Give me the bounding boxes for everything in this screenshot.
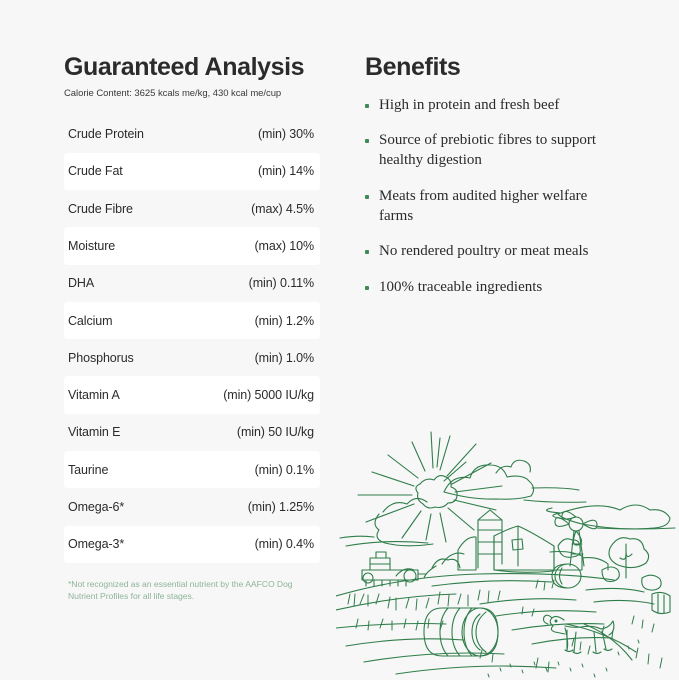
- table-row: Crude Protein (min) 30%: [64, 115, 320, 152]
- nutrient-value: (min) 1.0%: [255, 351, 314, 365]
- table-row: Crude Fibre (max) 4.5%: [64, 190, 320, 227]
- aafco-footnote: *Not recognized as an essential nutrient…: [64, 579, 308, 602]
- nutrient-label: Vitamin E: [68, 425, 120, 439]
- guaranteed-analysis-panel: Guaranteed Analysis Calorie Content: 362…: [64, 54, 322, 602]
- table-row: Calcium (min) 1.2%: [64, 302, 320, 339]
- nutrient-label: DHA: [68, 276, 94, 290]
- windmill-icon: [555, 511, 597, 566]
- nutrient-label: Phosphorus: [68, 351, 134, 365]
- nutrient-label: Omega-6*: [68, 500, 124, 514]
- sun-icon: [358, 432, 502, 542]
- benefits-title: Benefits: [365, 54, 635, 82]
- bullet-icon: [365, 104, 369, 108]
- table-row: Phosphorus (min) 1.0%: [64, 339, 320, 376]
- list-item: 100% traceable ingredients: [365, 278, 635, 298]
- nutrient-value: (min) 0.1%: [255, 463, 314, 477]
- benefit-label: 100% traceable ingredients: [379, 278, 542, 298]
- nutrient-value: (max) 4.5%: [251, 202, 314, 216]
- table-row: DHA (min) 0.11%: [64, 265, 320, 302]
- nutrient-label: Vitamin A: [68, 388, 120, 402]
- list-item: Meats from audited higher welfare farms: [365, 187, 635, 227]
- product-info-page: Guaranteed Analysis Calorie Content: 362…: [0, 0, 679, 679]
- nutrient-table: Crude Protein (min) 30% Crude Fat (min) …: [64, 115, 320, 563]
- nutrient-label: Moisture: [68, 239, 115, 253]
- nutrient-label: Crude Fibre: [68, 202, 133, 216]
- benefit-label: Source of prebiotic fibres to support he…: [379, 131, 609, 171]
- benefit-label: No rendered poultry or meat meals: [379, 242, 589, 262]
- field-furrows: [336, 574, 654, 674]
- grass-tufts: [348, 580, 662, 672]
- bullet-icon: [365, 195, 369, 199]
- foreground-speckles: [488, 640, 639, 677]
- table-row: Crude Fat (min) 14%: [64, 153, 320, 190]
- hay-bale-main: [424, 608, 498, 656]
- benefit-label: High in protein and fresh beef: [379, 96, 559, 116]
- bullet-icon: [365, 250, 369, 254]
- farm-illustration: [336, 418, 679, 680]
- benefits-panel: Benefits High in protein and fresh beef …: [365, 54, 635, 314]
- nutrient-value: (min) 1.25%: [248, 500, 314, 514]
- nutrient-label: Crude Protein: [68, 127, 144, 141]
- table-row: Vitamin E (min) 50 IU/kg: [64, 414, 320, 451]
- nutrient-value: (min) 0.11%: [249, 276, 314, 290]
- guaranteed-analysis-title: Guaranteed Analysis: [64, 54, 322, 82]
- nutrient-value: (min) 5000 IU/kg: [223, 388, 314, 402]
- barn-icon: [424, 510, 608, 578]
- calorie-content-subtitle: Calorie Content: 3625 kcals me/kg, 430 k…: [64, 88, 322, 100]
- trees-icon: [396, 538, 649, 578]
- nutrient-value: (min) 14%: [258, 164, 314, 178]
- bullet-icon: [365, 286, 369, 290]
- table-row: Taurine (min) 0.1%: [64, 451, 320, 488]
- nutrient-label: Crude Fat: [68, 164, 123, 178]
- nutrient-value: (min) 50 IU/kg: [237, 425, 314, 439]
- benefit-label: Meats from audited higher welfare farms: [379, 187, 609, 227]
- table-row: Omega-6* (min) 1.25%: [64, 488, 320, 525]
- nutrient-value: (min) 30%: [258, 127, 314, 141]
- nutrient-label: Taurine: [68, 463, 108, 477]
- nutrient-value: (min) 1.2%: [255, 314, 314, 328]
- nutrient-label: Omega-3*: [68, 537, 124, 551]
- list-item: High in protein and fresh beef: [365, 96, 635, 116]
- list-item: Source of prebiotic fibres to support he…: [365, 131, 635, 171]
- nutrient-value: (max) 10%: [254, 239, 314, 253]
- dog-icon: [544, 615, 614, 653]
- table-row: Omega-3* (min) 0.4%: [64, 526, 320, 563]
- tractor-icon: [362, 552, 426, 586]
- clouds-icon: [340, 460, 675, 546]
- table-row: Moisture (max) 10%: [64, 227, 320, 264]
- list-item: No rendered poultry or meat meals: [365, 242, 635, 262]
- nutrient-label: Calcium: [68, 314, 112, 328]
- table-row: Vitamin A (min) 5000 IU/kg: [64, 376, 320, 413]
- nutrient-value: (min) 0.4%: [255, 537, 314, 551]
- hay-bales-distant: [552, 564, 670, 614]
- bullet-icon: [365, 139, 369, 143]
